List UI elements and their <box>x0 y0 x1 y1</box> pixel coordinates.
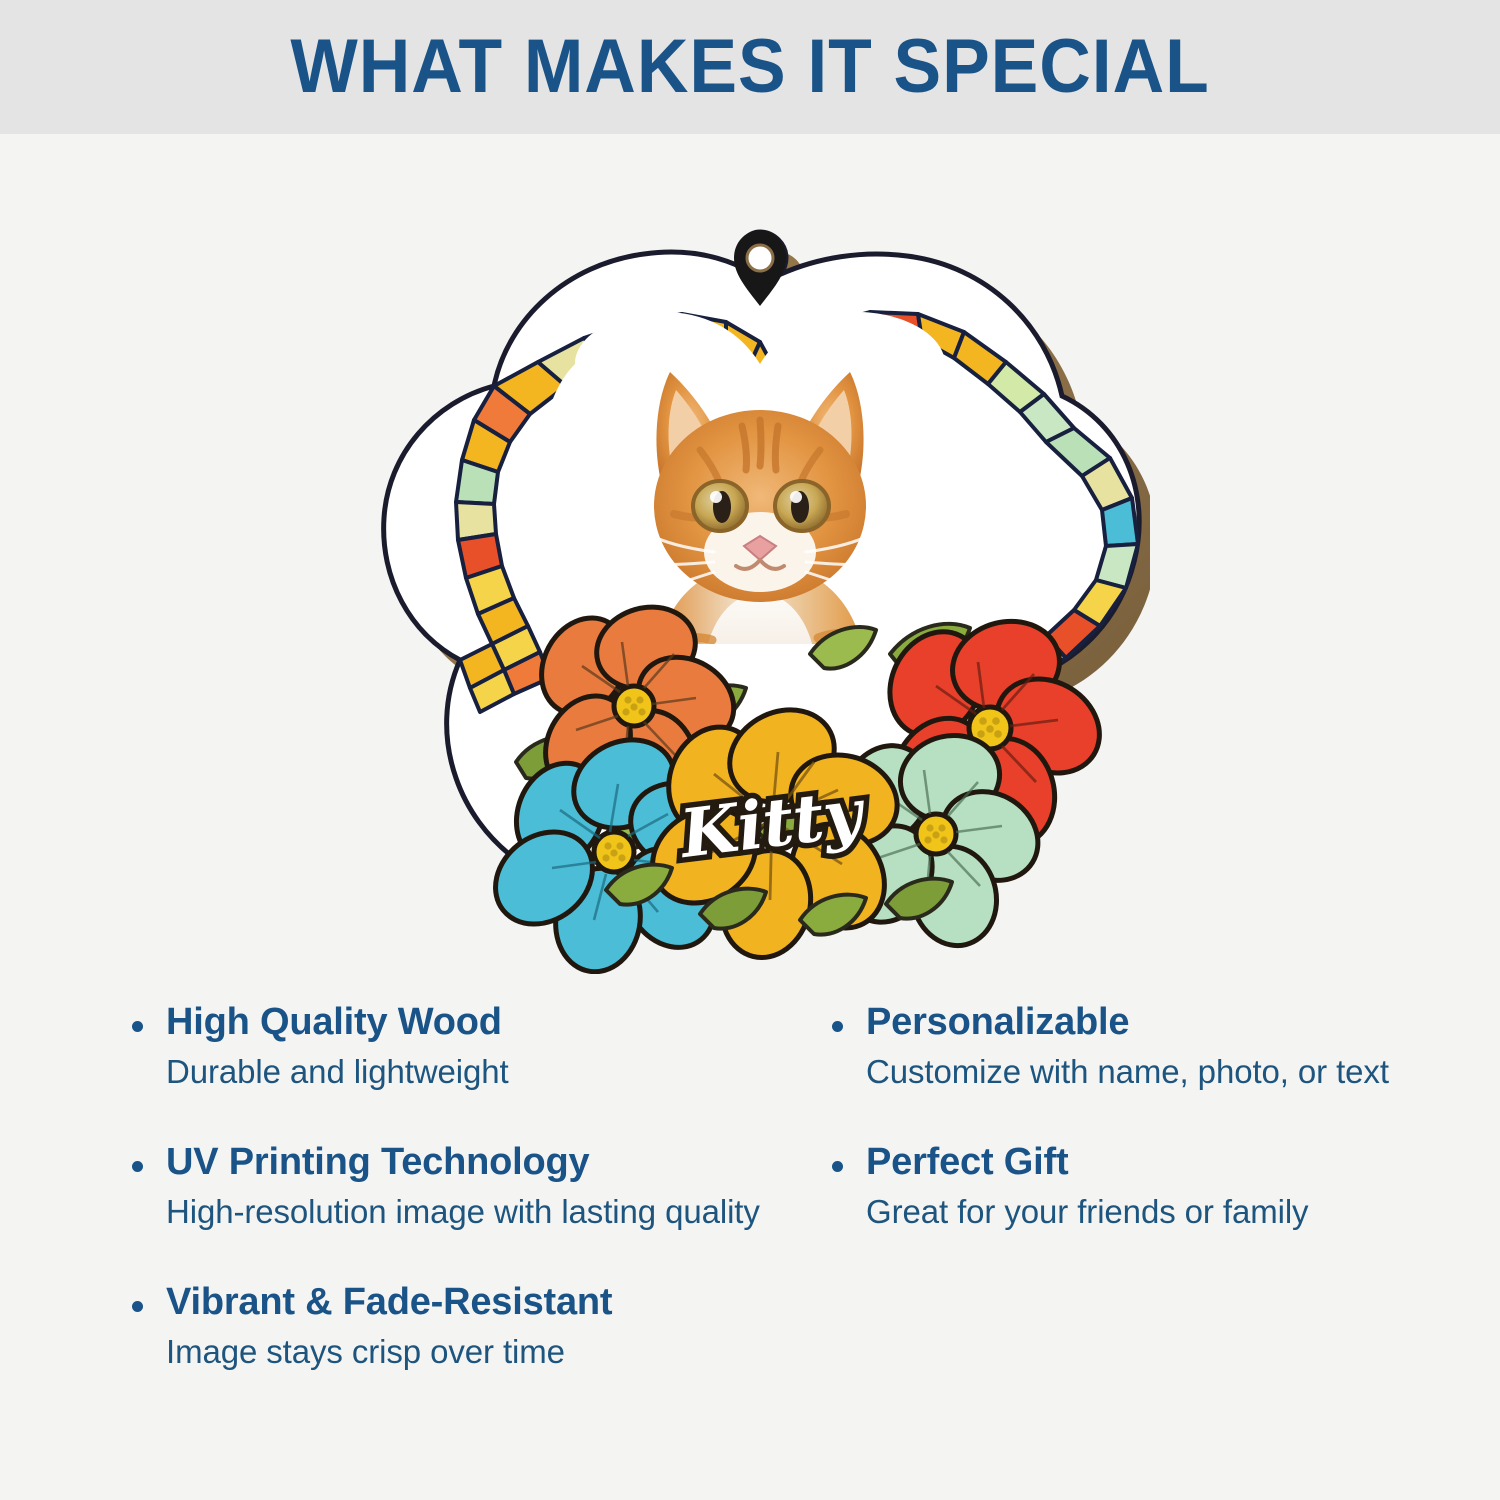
header-banner: WHAT MAKES IT SPECIAL <box>0 0 1500 134</box>
bullet-dot-icon <box>832 1021 843 1032</box>
feature-title: High Quality Wood <box>166 1000 810 1045</box>
feature-item: Vibrant & Fade-Resistant Image stays cri… <box>110 1280 810 1372</box>
bullet-dot-icon <box>132 1021 143 1032</box>
feature-item: High Quality Wood Durable and lightweigh… <box>110 1000 810 1092</box>
feature-title: Perfect Gift <box>866 1140 1500 1185</box>
page-title: WHAT MAKES IT SPECIAL <box>290 29 1209 105</box>
feature-title: Vibrant & Fade-Resistant <box>166 1280 810 1325</box>
features-section: High Quality Wood Durable and lightweigh… <box>0 1000 1500 1460</box>
feature-description: Durable and lightweight <box>166 1051 810 1092</box>
ornament-svg: Kitty <box>370 214 1150 974</box>
feature-title: UV Printing Technology <box>166 1140 810 1185</box>
features-column-right: Personalizable Customize with name, phot… <box>810 1000 1500 1280</box>
ornament-image: Kitty <box>370 214 1150 974</box>
feature-title: Personalizable <box>866 1000 1500 1045</box>
feature-description: Image stays crisp over time <box>166 1331 810 1372</box>
feature-description: High-resolution image with lasting quali… <box>166 1191 810 1232</box>
bullet-dot-icon <box>132 1161 143 1172</box>
feature-description: Customize with name, photo, or text <box>866 1051 1500 1092</box>
bullet-dot-icon <box>132 1301 143 1312</box>
product-hero: Kitty <box>0 134 1500 1000</box>
bullet-dot-icon <box>832 1161 843 1172</box>
feature-description: Great for your friends or family <box>866 1191 1500 1232</box>
features-column-left: High Quality Wood Durable and lightweigh… <box>110 1000 810 1420</box>
feature-item: UV Printing Technology High-resolution i… <box>110 1140 810 1232</box>
feature-item: Personalizable Customize with name, phot… <box>810 1000 1500 1092</box>
feature-item: Perfect Gift Great for your friends or f… <box>810 1140 1500 1232</box>
